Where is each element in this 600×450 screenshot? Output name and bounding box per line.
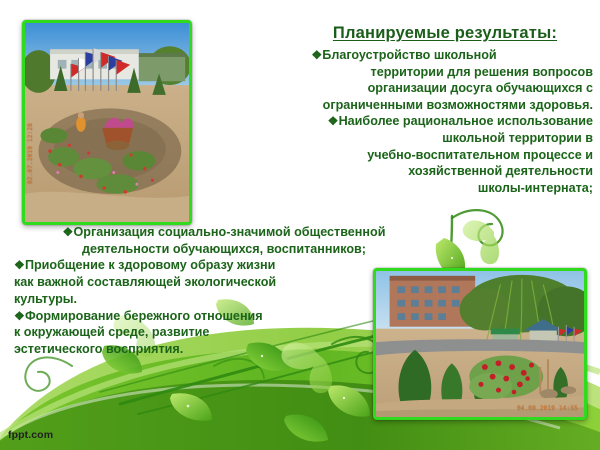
bullet-line: территории для решения вопросов <box>371 65 593 79</box>
bullet-item: ❖Наиболее рациональное использование <box>215 113 593 130</box>
objectives-lower-block: ❖Организация социально-значимой обществе… <box>14 224 434 358</box>
photo-right-timestamp: 04.08.2019 14:55 <box>517 405 578 412</box>
bullet-glyph-icon: ❖ <box>14 258 25 272</box>
bullet-line: культуры. <box>14 292 77 306</box>
bullet-line-wrap: школьной территории в <box>215 130 593 147</box>
bullet-item: ❖Приобщение к здоровому образу жизни <box>14 257 434 274</box>
bullet-item: ❖Благоустройство школьной <box>215 47 593 64</box>
fppt-watermark: fppt.com <box>8 429 53 441</box>
photo-frame-left: 02.07.2019 12:28 <box>22 20 192 225</box>
bullet-item: ❖Организация социально-значимой обществе… <box>14 224 434 241</box>
bullet-line-wrap: хозяйственной деятельности <box>215 163 593 180</box>
bullet-glyph-icon: ❖ <box>63 225 74 239</box>
bullet-line: эстетического восприятия. <box>14 342 183 356</box>
bullet-line: хозяйственной деятельности <box>408 164 593 178</box>
bullet-item: ❖Формирование бережного отношения <box>14 308 434 325</box>
photo-left-image <box>25 23 189 222</box>
bullet-line-wrap: деятельности обучающихся, воспитанников; <box>14 241 434 258</box>
bullet-line-wrap: территории для решения вопросов <box>215 64 593 81</box>
bullet-line: Формирование бережного отношения <box>25 309 263 323</box>
bullet-line-wrap: учебно-воспитательном процессе и <box>215 147 593 164</box>
photo-left-timestamp: 02.07.2019 12:28 <box>27 123 34 184</box>
bullet-line-wrap: эстетического восприятия. <box>14 341 434 358</box>
bullet-glyph-icon: ❖ <box>328 114 339 128</box>
bullet-line: школы-интерната; <box>478 181 593 195</box>
bullet-line-wrap: культуры. <box>14 291 434 308</box>
bullet-line: как важной составляющей экологической <box>14 275 276 289</box>
bullet-line: Наиболее рациональное использование <box>339 114 593 128</box>
bullet-line: деятельности обучающихся, воспитанников; <box>82 242 366 256</box>
page-title: Планируемые результаты: <box>300 24 590 43</box>
bullet-line: учебно-воспитательном процессе и <box>367 148 593 162</box>
bullet-line-wrap: школы-интерната; <box>215 180 593 197</box>
bullet-line: Приобщение к здоровому образу жизни <box>25 258 275 272</box>
bullet-line: к окружающей среде, развитие <box>14 325 209 339</box>
bullet-glyph-icon: ❖ <box>311 48 322 62</box>
bullet-line-wrap: организации досуга обучающихся с <box>215 80 593 97</box>
bullet-line: ограниченными возможностями здоровья. <box>323 98 593 112</box>
bullet-line-wrap: как важной составляющей экологической <box>14 274 434 291</box>
bullet-glyph-icon: ❖ <box>14 309 25 323</box>
bullet-line-wrap: к окружающей среде, развитие <box>14 324 434 341</box>
objectives-right-block: ❖Благоустройство школьной территории для… <box>215 47 593 196</box>
bullet-line: организации досуга обучающихся с <box>368 81 593 95</box>
bullet-line: школьной территории в <box>442 131 593 145</box>
presentation-slide: 02.07.2019 12:28 <box>0 0 600 450</box>
bullet-line-wrap: ограниченными возможностями здоровья. <box>215 97 593 114</box>
bullet-line: Благоустройство школьной <box>322 48 496 62</box>
bullet-line: Организация социально-значимой обществен… <box>73 225 385 239</box>
